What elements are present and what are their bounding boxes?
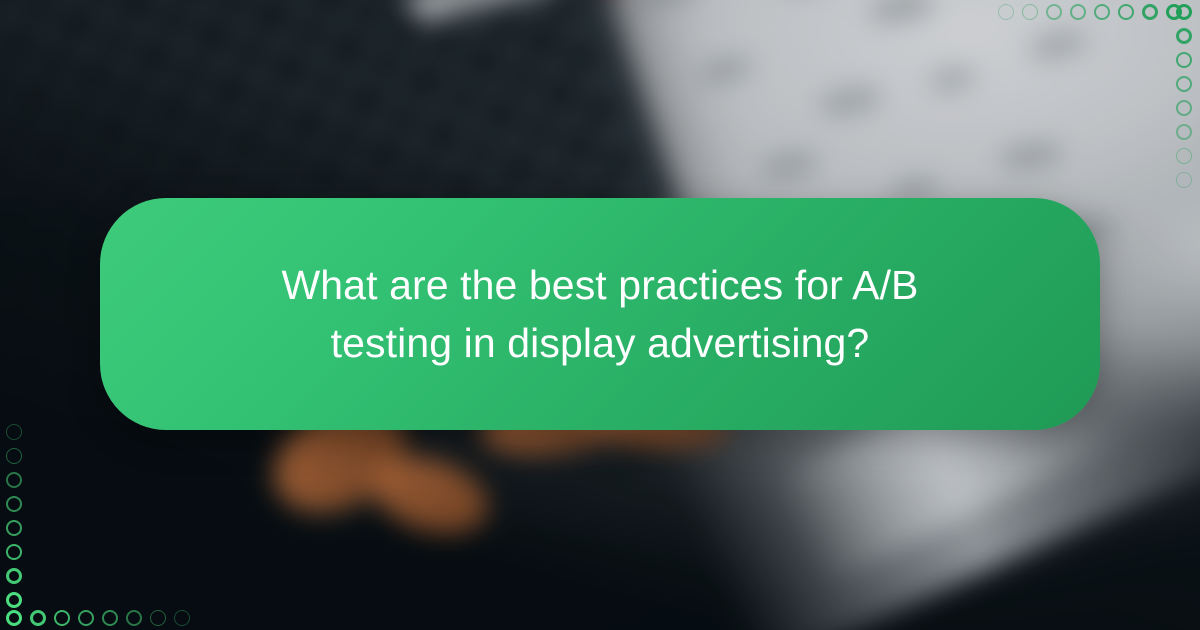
decorative-circle-icon	[150, 610, 166, 626]
decorative-circle-icon	[1176, 124, 1192, 140]
decorative-circle-icon	[126, 610, 142, 626]
decorative-circle-icon	[6, 472, 22, 488]
decorative-circle-icon	[174, 610, 190, 626]
decorative-circle-icon	[6, 544, 22, 560]
decorative-circle-icon	[6, 568, 22, 584]
decorative-circle-icon	[1046, 4, 1062, 20]
decorative-circle-icon	[1176, 28, 1192, 44]
dot-pattern-top-row	[0, 0, 1200, 40]
question-text: What are the best practices for A/B test…	[250, 256, 950, 372]
decorative-circle-icon	[1176, 76, 1192, 92]
decorative-circle-icon	[1070, 4, 1086, 20]
decorative-circle-icon	[1176, 172, 1192, 188]
decorative-circle-icon	[6, 424, 22, 440]
decorative-circle-icon	[6, 496, 22, 512]
decorative-circle-icon	[998, 4, 1014, 20]
question-card: What are the best practices for A/B test…	[100, 198, 1100, 430]
decorative-circle-icon	[6, 592, 22, 608]
decorative-circle-icon	[1176, 4, 1192, 20]
decorative-circle-icon	[102, 610, 118, 626]
dot-pattern-left-column	[0, 400, 40, 630]
decorative-circle-icon	[54, 610, 70, 626]
decorative-circle-icon	[1176, 52, 1192, 68]
decorative-circle-icon	[1094, 4, 1110, 20]
decorative-circle-icon	[6, 448, 22, 464]
decorative-circle-icon	[1176, 100, 1192, 116]
decorative-circle-icon	[1022, 4, 1038, 20]
dot-pattern-right-column	[1160, 0, 1200, 230]
decorative-circle-icon	[1118, 4, 1134, 20]
decorative-circle-icon	[1142, 4, 1158, 20]
decorative-circle-icon	[1176, 148, 1192, 164]
question-card-graphic: What are the best practices for A/B test…	[0, 0, 1200, 630]
decorative-circle-icon	[6, 520, 22, 536]
decorative-circle-icon	[78, 610, 94, 626]
dot-pattern-bottom-row	[0, 590, 1200, 630]
